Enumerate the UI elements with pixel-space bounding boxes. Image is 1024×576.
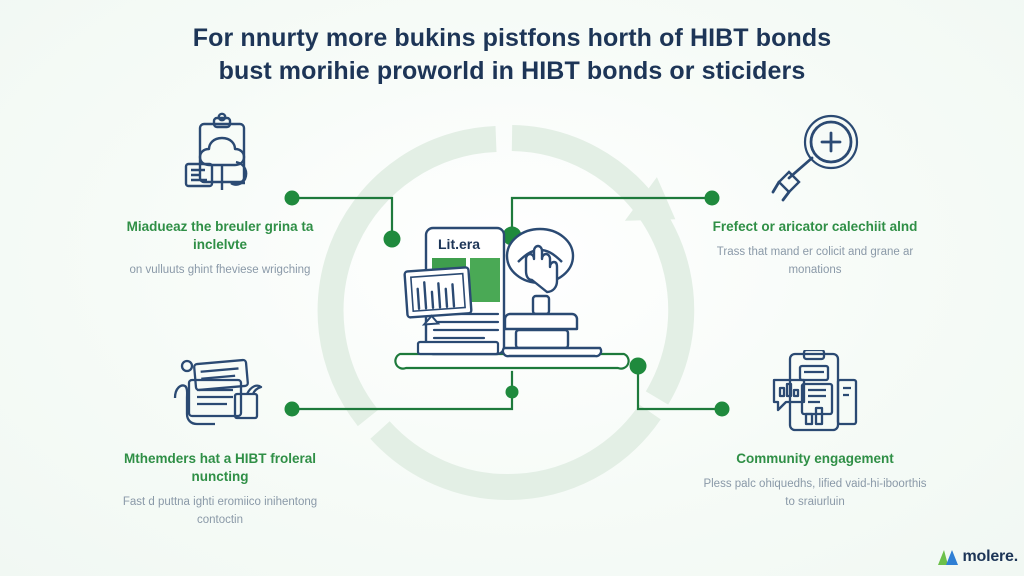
magnifier-plus-icon: [700, 108, 930, 204]
page-title: For nnurty more bukins pistfons horth of…: [142, 22, 882, 88]
clipboard-charts-icon: [700, 340, 930, 436]
chevron-logo-icon: [937, 549, 959, 566]
quadrant-bottom-left[interactable]: Mthemders hat a HIBT froleral nuncting F…: [105, 340, 335, 530]
title-line-1: For nnurty more bukins pistfons horth of…: [142, 22, 882, 55]
quadrant-body: Fast d puttna ighti eromiico inihentong …: [105, 494, 335, 530]
watermark-text: molere.: [962, 548, 1018, 566]
clipboard-tree-icon: [105, 108, 335, 204]
quadrant-heading: Community engagement: [700, 450, 930, 468]
center-illustration: Lit.era: [392, 218, 632, 383]
title-line-2: bust morihie proworld in HIBT bonds or s…: [142, 55, 882, 88]
connector-node-center-b: [506, 386, 519, 399]
quadrant-heading: Miadueaz the breuler grina ta inclelvte: [105, 218, 335, 254]
quadrant-top-right[interactable]: Frefect or aricator calechiit alnd Trass…: [700, 108, 930, 280]
connector-node-center-br: [630, 358, 647, 375]
quadrant-heading: Mthemders hat a HIBT froleral nuncting: [105, 450, 335, 486]
doc-block-right: [470, 258, 500, 302]
quadrant-heading: Frefect or aricator calechiit alnd: [700, 218, 930, 236]
quadrant-bottom-right[interactable]: Community engagement Pless palc ohiquedh…: [700, 340, 930, 512]
doc-stack-edge: [418, 342, 498, 354]
infographic-canvas: For nnurty more bukins pistfons horth of…: [0, 0, 1024, 576]
person-figure: [503, 229, 601, 356]
quadrant-body: on vulluuts ghint fheviese wrigching: [105, 262, 335, 280]
documents-hand-icon: [105, 340, 335, 436]
watermark: molere.: [937, 548, 1018, 566]
center-label: Lit.era: [438, 236, 480, 252]
quadrant-body: Trass that mand er colicit and grane ar …: [700, 244, 930, 280]
quadrant-body: Pless palc ohiquedhs, lified vaid-hi-ibo…: [700, 476, 930, 512]
quadrant-top-left[interactable]: Miadueaz the breuler grina ta inclelvte …: [105, 108, 335, 280]
